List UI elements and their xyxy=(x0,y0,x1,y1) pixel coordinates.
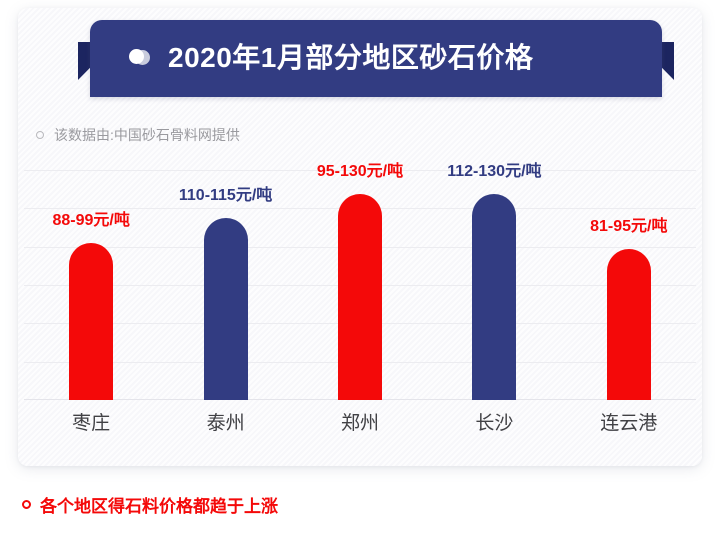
category-label: 枣庄 xyxy=(72,408,110,435)
subtitle-text: 该数据由:中国砂石骨料网提供 xyxy=(54,125,240,145)
bar-group[interactable]: 81-95元/吨 xyxy=(562,170,696,400)
bar-value-label: 81-95元/吨 xyxy=(590,212,667,236)
page-title: 2020年1月部分地区砂石价格 xyxy=(168,34,533,82)
bar-group[interactable]: 95-130元/吨 xyxy=(293,170,427,400)
bar[interactable] xyxy=(69,243,113,400)
bar[interactable] xyxy=(472,194,516,400)
bar-value-label: 88-99元/吨 xyxy=(53,206,130,230)
dot-icon-core xyxy=(129,49,144,64)
bar-group[interactable]: 110-115元/吨 xyxy=(158,170,292,400)
ring-bullet-icon xyxy=(36,131,44,139)
category-label: 郑州 xyxy=(341,408,379,435)
title-banner-body: 2020年1月部分地区砂石价格 xyxy=(90,20,662,97)
bar-group[interactable]: 88-99元/吨 xyxy=(24,170,158,400)
chart-page: 2020年1月部分地区砂石价格 该数据由:中国砂石骨料网提供 88-99元/吨1… xyxy=(0,0,720,541)
bar[interactable] xyxy=(338,194,382,400)
subtitle: 该数据由:中国砂石骨料网提供 xyxy=(36,125,240,145)
bar-group[interactable]: 112-130元/吨 xyxy=(427,170,561,400)
bar[interactable] xyxy=(607,249,651,400)
bar-chart-plot-area: 88-99元/吨110-115元/吨95-130元/吨112-130元/吨81-… xyxy=(24,170,696,400)
category-label: 泰州 xyxy=(207,408,245,435)
bar[interactable] xyxy=(204,218,248,400)
footer-note: 各个地区得石料价格都趋于上涨 xyxy=(22,492,278,517)
category-label: 连云港 xyxy=(600,408,657,435)
ring-bullet-icon xyxy=(22,500,31,509)
footer-note-text: 各个地区得石料价格都趋于上涨 xyxy=(40,492,278,517)
category-label: 长沙 xyxy=(475,408,513,435)
bar-value-label: 112-130元/吨 xyxy=(447,157,541,181)
bar-value-label: 95-130元/吨 xyxy=(317,157,403,181)
title-banner: 2020年1月部分地区砂石价格 xyxy=(78,20,674,97)
dot-icon xyxy=(128,48,154,68)
bar-value-label: 110-115元/吨 xyxy=(179,181,272,205)
